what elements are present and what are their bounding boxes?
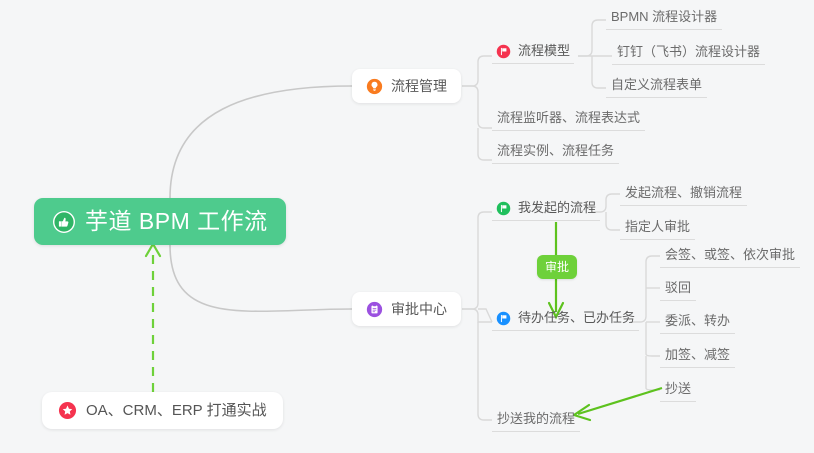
arrow-cc-flow bbox=[578, 388, 662, 414]
sub-label-todo-done-tasks: 待办任务、已办任务 bbox=[518, 310, 635, 327]
leaf-node-bpmn-designer[interactable]: BPMN 流程设计器 bbox=[606, 9, 722, 30]
leaf-node-assignee-approval[interactable]: 指定人审批 bbox=[620, 219, 695, 240]
leaf-node-cc[interactable]: 抄送 bbox=[660, 381, 696, 402]
leaf-node-custom-process-form[interactable]: 自定义流程表单 bbox=[606, 77, 707, 98]
edge-mystarted-to-assignee bbox=[606, 212, 620, 230]
sub-label-process-model: 流程模型 bbox=[518, 43, 570, 60]
flag-icon bbox=[496, 311, 511, 326]
leaf-node-process-listener[interactable]: 流程监听器、流程表达式 bbox=[492, 110, 645, 131]
arrow-oa-head bbox=[146, 244, 160, 256]
edge-pm-trunk bbox=[462, 56, 492, 86]
sub-node-my-started-process[interactable]: 我发起的流程 bbox=[492, 200, 600, 221]
star-icon bbox=[58, 401, 77, 420]
edge-todo-to-addsign bbox=[646, 322, 660, 356]
mindmap-canvas: 芋道 BPM 工作流 流程管理 流程模型 BPMN 流程设计器 钉钉（飞书）流程… bbox=[0, 0, 814, 453]
lightbulb-icon bbox=[366, 78, 383, 95]
branch-node-approval-center[interactable]: 审批中心 bbox=[352, 292, 461, 326]
leaf-node-process-instance-task[interactable]: 流程实例、流程任务 bbox=[492, 143, 619, 164]
leaf-node-start-cancel-process[interactable]: 发起流程、撤销流程 bbox=[620, 185, 747, 206]
sub-node-todo-done-tasks[interactable]: 待办任务、已办任务 bbox=[492, 310, 639, 331]
edge-model-to-bpmn bbox=[578, 20, 606, 56]
edge-pm-to-instance bbox=[478, 128, 492, 160]
edge-pm-to-listener bbox=[462, 86, 492, 128]
clipboard-icon bbox=[366, 301, 383, 318]
flag-icon bbox=[496, 44, 511, 59]
leaf-node-add-remove-sign[interactable]: 加签、减签 bbox=[660, 347, 735, 368]
leaf-node-reject[interactable]: 驳回 bbox=[660, 280, 696, 301]
leaf-node-countersign[interactable]: 会签、或签、依次审批 bbox=[660, 247, 800, 268]
root-node[interactable]: 芋道 BPM 工作流 bbox=[34, 198, 286, 245]
flag-icon bbox=[496, 201, 511, 216]
edge-ac-to-ccmine bbox=[478, 322, 492, 420]
edge-todo-to-cc bbox=[646, 356, 660, 390]
branch-label-approval-center: 审批中心 bbox=[391, 302, 447, 316]
sub-node-process-model[interactable]: 流程模型 bbox=[492, 43, 574, 64]
edge-root-to-approval-center bbox=[170, 245, 352, 311]
leaf-node-cc-to-me-process[interactable]: 抄送我的流程 bbox=[492, 411, 580, 432]
edge-root-to-process-management bbox=[170, 86, 352, 198]
edge-ac-to-todo2 bbox=[462, 309, 492, 322]
root-label: 芋道 BPM 工作流 bbox=[85, 210, 268, 233]
edge-ac-to-mystarted bbox=[462, 212, 492, 309]
edge-ac-to-todo bbox=[478, 309, 492, 322]
leaf-node-dingtalk-feishu-designer[interactable]: 钉钉（飞书）流程设计器 bbox=[612, 44, 765, 65]
bottom-node-oa-crm-erp[interactable]: OA、CRM、ERP 打通实战 bbox=[42, 392, 283, 429]
sub-label-my-started-process: 我发起的流程 bbox=[518, 200, 596, 217]
leaf-node-delegate-transfer[interactable]: 委派、转办 bbox=[660, 313, 735, 334]
branch-node-process-management[interactable]: 流程管理 bbox=[352, 69, 461, 103]
bottom-node-label: OA、CRM、ERP 打通实战 bbox=[86, 403, 267, 418]
edge-model-to-customform bbox=[592, 56, 606, 88]
thumbs-up-icon bbox=[52, 210, 76, 234]
branch-label-process-management: 流程管理 bbox=[391, 79, 447, 93]
annotation-approval-tag[interactable]: 审批 bbox=[537, 255, 577, 279]
